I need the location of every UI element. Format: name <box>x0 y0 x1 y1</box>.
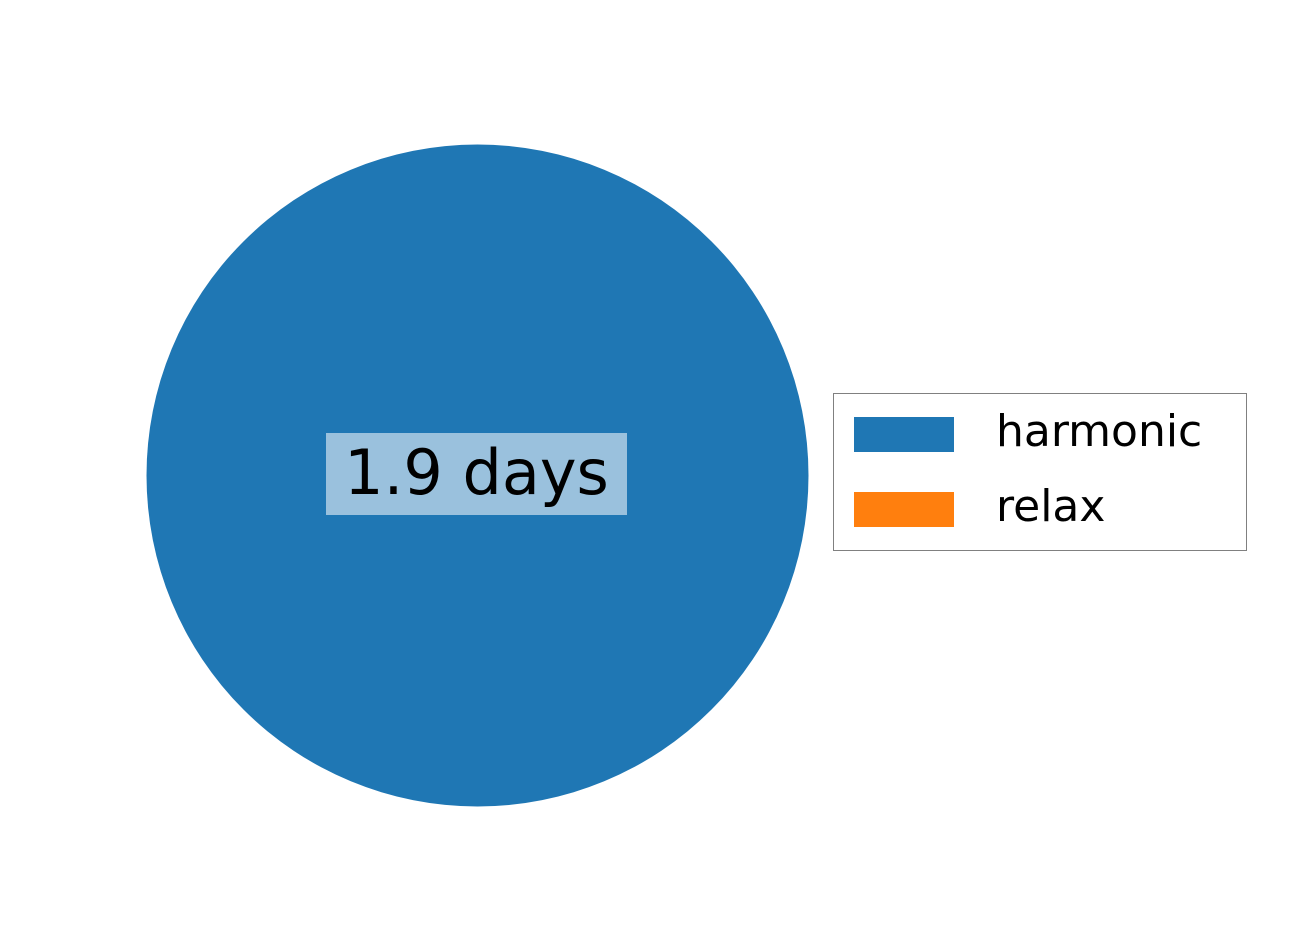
pie-label-bbox: 1.9 days <box>326 433 627 515</box>
pie-center-label: 1.9 days <box>344 442 609 504</box>
legend-entry-relax[interactable]: relax <box>854 491 1105 527</box>
legend-entry-harmonic[interactable]: harmonic <box>854 416 1202 452</box>
legend-label-relax: relax <box>996 485 1105 529</box>
legend-label-harmonic: harmonic <box>996 410 1202 454</box>
pie-chart-figure: 1.9 days harmonic relax <box>0 0 1307 951</box>
legend-box: harmonic relax <box>833 393 1247 551</box>
legend-swatch-harmonic-icon <box>854 417 954 452</box>
legend-swatch-relax-icon <box>854 492 954 527</box>
